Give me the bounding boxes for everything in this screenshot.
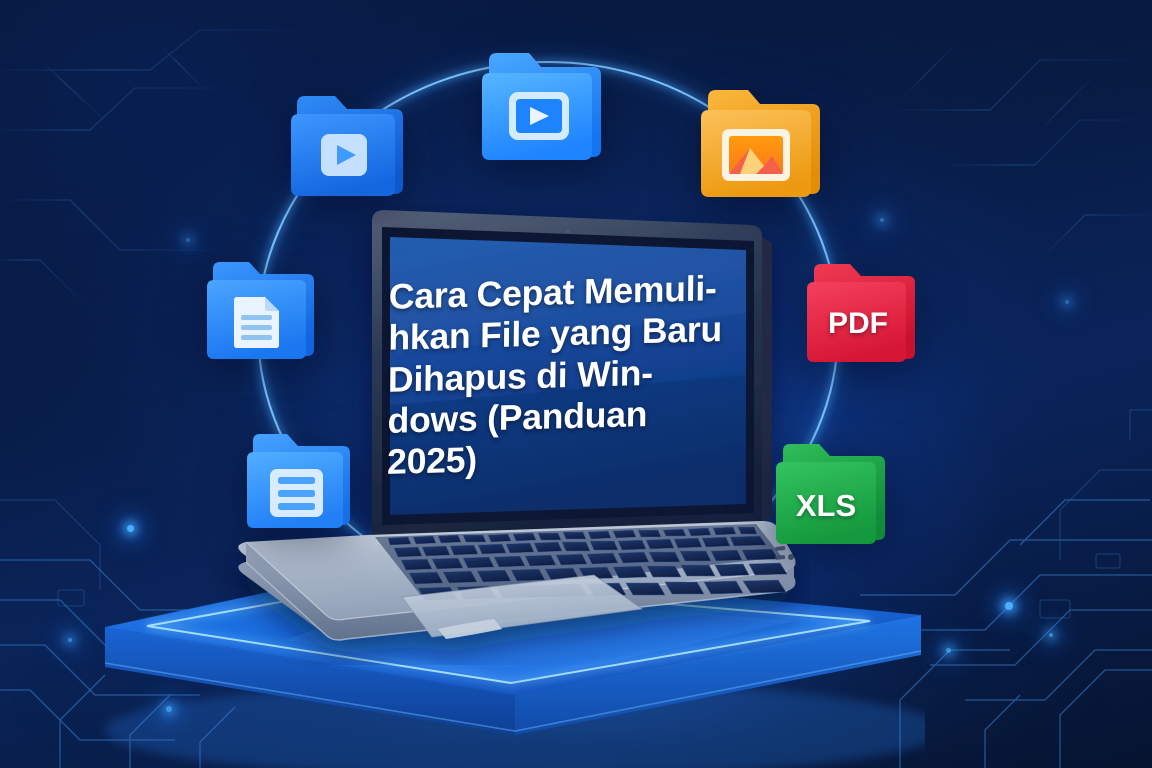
video-folder-left[interactable]	[283, 88, 415, 206]
xls-folder[interactable]: XLS	[768, 437, 896, 555]
document-folder-left[interactable]	[199, 255, 325, 369]
image-folder-orange[interactable]	[692, 82, 832, 208]
text-folder-left[interactable]	[240, 428, 360, 538]
pdf-folder[interactable]: PDF	[800, 257, 926, 373]
thumbnail-canvas: Cara Cepat Memuli- hkan File yang Baru D…	[0, 0, 1152, 768]
video-folder-top[interactable]	[473, 45, 613, 171]
